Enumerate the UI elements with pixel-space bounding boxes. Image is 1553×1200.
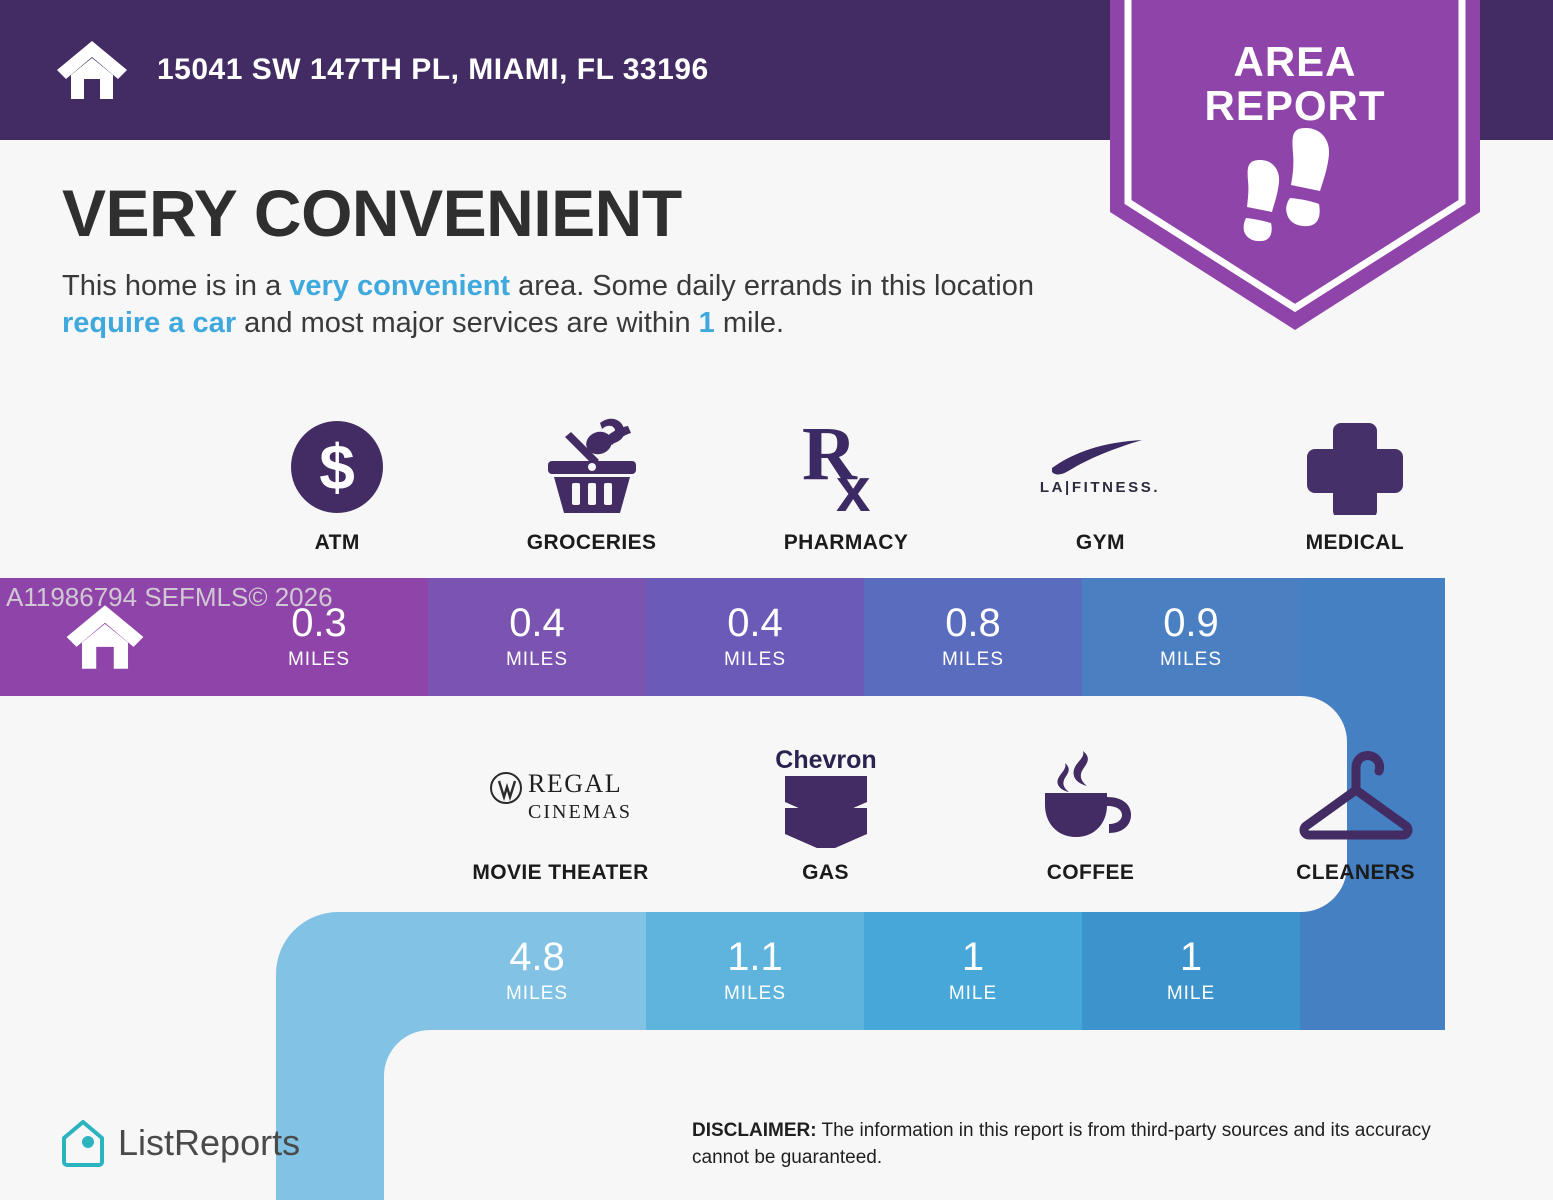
intro-highlight-2: require a car	[62, 307, 236, 339]
amenity-label: GAS	[802, 861, 849, 885]
amenity-label: GROCERIES	[527, 531, 657, 555]
rx-icon: R x	[796, 415, 896, 519]
amenity-groceries: GROCERIES	[464, 415, 718, 555]
intro-block: VERY CONVENIENT This home is in a very c…	[62, 180, 1112, 342]
amenity-coffee: COFFEE	[958, 745, 1223, 885]
bar-segment-gas: 1.1 MILES	[646, 912, 864, 1030]
regal-wordmark-line2: CINEMAS	[528, 801, 632, 823]
la-fitness-logo-icon: LA|FITNESS.	[1020, 415, 1180, 519]
bar-segment-movie-theater: 4.8 MILES	[428, 912, 646, 1030]
svg-text:$: $	[319, 431, 355, 503]
medical-cross-icon	[1307, 415, 1403, 519]
distance-value: 0.4	[509, 603, 565, 643]
distance-unit: MILES	[506, 649, 568, 671]
listreports-logo: ListReports	[60, 1118, 300, 1168]
amenity-label: CLEANERS	[1296, 861, 1415, 885]
badge-shield-shape	[1110, 0, 1480, 330]
regal-cinemas-logo-icon: REGAL CINEMAS	[486, 745, 636, 849]
svg-text:x: x	[836, 456, 871, 517]
intro-text-2: area. Some daily errands in this locatio…	[510, 270, 1034, 302]
dollar-circle-icon: $	[289, 415, 385, 519]
amenity-label: MOVIE THEATER	[472, 861, 648, 885]
amenity-cleaners: CLEANERS	[1223, 745, 1488, 885]
distance-value: 4.8	[509, 937, 565, 977]
bar-segment-medical: 0.9 MILES	[1082, 578, 1300, 696]
chevron-wordmark: Chevron	[775, 746, 876, 774]
bar-segment-coffee: 1 MILE	[864, 912, 1082, 1030]
disclaimer-label: DISCLAIMER:	[692, 1120, 817, 1141]
mls-watermark: A11986794 SEFMLS© 2026	[6, 582, 333, 613]
intro-highlight-1: very convenient	[289, 270, 510, 302]
distance-value: 1.1	[727, 937, 783, 977]
bar-segment-tail	[1300, 578, 1445, 696]
property-address: 15041 SW 147TH PL, MIAMI, FL 33196	[157, 53, 709, 87]
distance-value: 0.8	[945, 603, 1001, 643]
amenity-label: ATM	[315, 531, 360, 555]
amenity-label: PHARMACY	[784, 531, 909, 555]
la-fitness-wordmark: LA|FITNESS.	[1040, 479, 1160, 496]
house-icon	[55, 39, 129, 101]
house-icon	[64, 603, 146, 671]
amenity-icon-row-primary: $ ATM GROCERIES	[210, 415, 1482, 555]
distance-unit: MILE	[1167, 983, 1215, 1005]
page-title: VERY CONVENIENT	[62, 180, 1112, 246]
connector-elbow-left-notch	[384, 1030, 584, 1200]
distance-bar-secondary: 4.8 MILES 1.1 MILES 1 MILE 1 MILE	[428, 912, 1445, 1030]
coffee-cup-icon	[1039, 745, 1143, 849]
distance-unit: MILES	[724, 983, 786, 1005]
grocery-basket-icon	[540, 415, 644, 519]
bar-segment-cleaners: 1 MILE	[1082, 912, 1300, 1030]
regal-wordmark-line1: REGAL	[528, 769, 622, 798]
distance-unit: MILES	[942, 649, 1004, 671]
amenity-gas: Chevron GAS	[693, 745, 958, 885]
distance-unit: MILE	[949, 983, 997, 1005]
intro-text-4: mile.	[715, 307, 784, 339]
intro-highlight-3: 1	[699, 307, 715, 339]
intro-text-3: and most major services are within	[236, 307, 699, 339]
distance-value: 1	[1180, 937, 1202, 977]
amenity-pharmacy: R x PHARMACY	[719, 415, 973, 555]
amenity-label: MEDICAL	[1306, 531, 1404, 555]
distance-unit: MILES	[288, 649, 350, 671]
amenity-atm: $ ATM	[210, 415, 464, 555]
distance-unit: MILES	[724, 649, 786, 671]
distance-value: 0.4	[727, 603, 783, 643]
intro-text-1: This home is in a	[62, 270, 289, 302]
clothes-hanger-icon	[1296, 745, 1416, 849]
amenity-movie-theater: REGAL CINEMAS MOVIE THEATER	[428, 745, 693, 885]
bar-segment-groceries: 0.4 MILES	[428, 578, 646, 696]
amenity-gym: LA|FITNESS. GYM	[973, 415, 1227, 555]
amenity-label: GYM	[1076, 531, 1125, 555]
chevron-logo-icon: Chevron	[771, 745, 881, 849]
distance-value: 0.9	[1163, 603, 1219, 643]
distance-value: 1	[962, 937, 984, 977]
amenity-icon-row-secondary: REGAL CINEMAS MOVIE THEATER Chevron GAS	[428, 745, 1488, 885]
listreports-wordmark: ListReports	[118, 1122, 300, 1164]
amenity-medical: MEDICAL	[1228, 415, 1482, 555]
intro-paragraph: This home is in a very convenient area. …	[62, 268, 1112, 342]
distance-unit: MILES	[506, 983, 568, 1005]
amenity-label: COFFEE	[1047, 861, 1135, 885]
listreports-house-icon	[60, 1118, 106, 1168]
bar-segment-gym: 0.8 MILES	[864, 578, 1082, 696]
bar-segment-tail	[1300, 912, 1445, 1030]
distance-unit: MILES	[1160, 649, 1222, 671]
bar-segment-pharmacy: 0.4 MILES	[646, 578, 864, 696]
area-report-badge: AREA REPORT	[1110, 0, 1480, 330]
disclaimer: DISCLAIMER: The information in this repo…	[692, 1117, 1492, 1172]
